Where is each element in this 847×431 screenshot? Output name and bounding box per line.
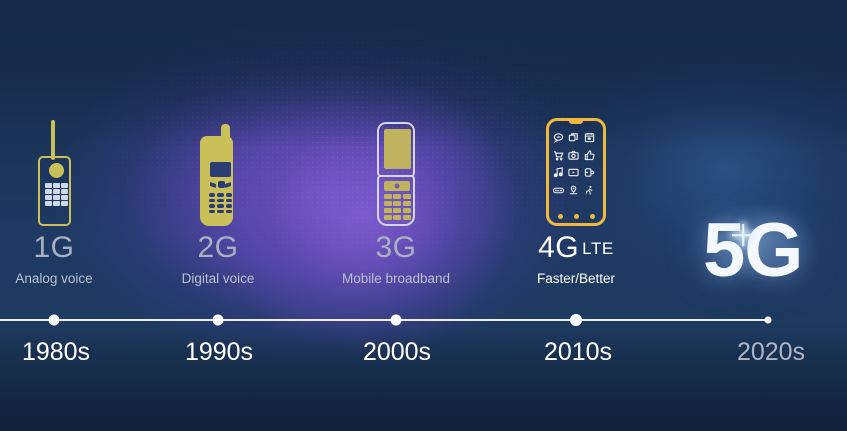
- generation-label-3g: 3G Mobile broadband: [342, 233, 450, 286]
- timeline-dot-1990s[interactable]: [213, 315, 224, 326]
- phone-body: [38, 156, 71, 226]
- flip-phone-illustration: [374, 122, 418, 226]
- calendar-icon: [584, 132, 595, 143]
- timeline-label-1990s: 1990s: [185, 338, 253, 367]
- generation-title-main: 4G: [538, 231, 579, 264]
- generation-title-suffix: LTE: [582, 239, 614, 258]
- generation-title: 2G: [182, 233, 255, 263]
- generation-subtitle: Faster/Better: [537, 272, 615, 286]
- screen-icon: [384, 129, 411, 169]
- keypad-icon: [45, 183, 68, 206]
- video-play-icon: [568, 167, 579, 178]
- timeline-label-1980s: 1980s: [22, 338, 90, 367]
- music-note-icon: [553, 167, 564, 178]
- timeline-dot-2010s[interactable]: [570, 314, 582, 326]
- generation-subtitle: Mobile broadband: [342, 272, 450, 286]
- fiveg-headline: 5G: [703, 213, 802, 289]
- generation-subtitle: Analog voice: [15, 272, 92, 286]
- generation-title: 1G: [15, 233, 92, 263]
- timeline-label-2000s: 2000s: [363, 338, 431, 367]
- app-screen: [551, 129, 597, 199]
- timeline-label-2010s: 2010s: [544, 338, 612, 367]
- generation-subtitle: Digital voice: [182, 272, 255, 286]
- notch-icon: [569, 121, 583, 124]
- location-pin-icon: [568, 185, 579, 196]
- vr-goggles-icon: [553, 185, 564, 196]
- 5g-evolution-infographic: 1G Analog voice 2G: [0, 0, 847, 431]
- app-icon-grid: [551, 129, 597, 199]
- gamepad-icon: [584, 167, 595, 178]
- flip-phone-lid: [377, 122, 415, 177]
- person-running-icon: [584, 185, 595, 196]
- timeline-dot-2020s[interactable]: [765, 317, 772, 324]
- brick-phone-illustration: [34, 120, 74, 226]
- cart-icon: [553, 150, 564, 161]
- generation-label-4g: 4GLTE Faster/Better: [537, 233, 615, 286]
- flip-phone-base: [377, 175, 415, 226]
- generation-label-2g: 2G Digital voice: [182, 233, 255, 286]
- timeline: [0, 315, 847, 325]
- keypad-icon: [384, 194, 411, 220]
- screen-icon: [210, 162, 231, 177]
- copy-icon: [568, 132, 579, 143]
- chat-icon: [553, 132, 564, 143]
- timeline-dot-1980s[interactable]: [49, 315, 60, 326]
- generation-title: 4GLTE: [537, 233, 615, 263]
- generation-label-1g: 1G Analog voice: [15, 233, 92, 286]
- timeline-dot-2000s[interactable]: [391, 315, 402, 326]
- candybar-phone-illustration: [196, 124, 240, 226]
- generation-title: 3G: [342, 233, 450, 263]
- antenna-icon: [51, 120, 55, 160]
- navigation-pad-icon: [384, 181, 410, 191]
- timeline-label-2020s: 2020s: [737, 338, 805, 367]
- round-screen-icon: [49, 163, 64, 178]
- keypad-icon: [209, 193, 232, 213]
- thumbs-up-icon: [584, 150, 595, 161]
- navigation-keys-icon: [210, 181, 231, 190]
- camera-icon: [568, 150, 579, 161]
- timeline-line: [0, 319, 768, 321]
- phone-body: [200, 136, 233, 226]
- home-indicator-dots: [546, 214, 606, 219]
- smartphone-illustration: [546, 118, 606, 226]
